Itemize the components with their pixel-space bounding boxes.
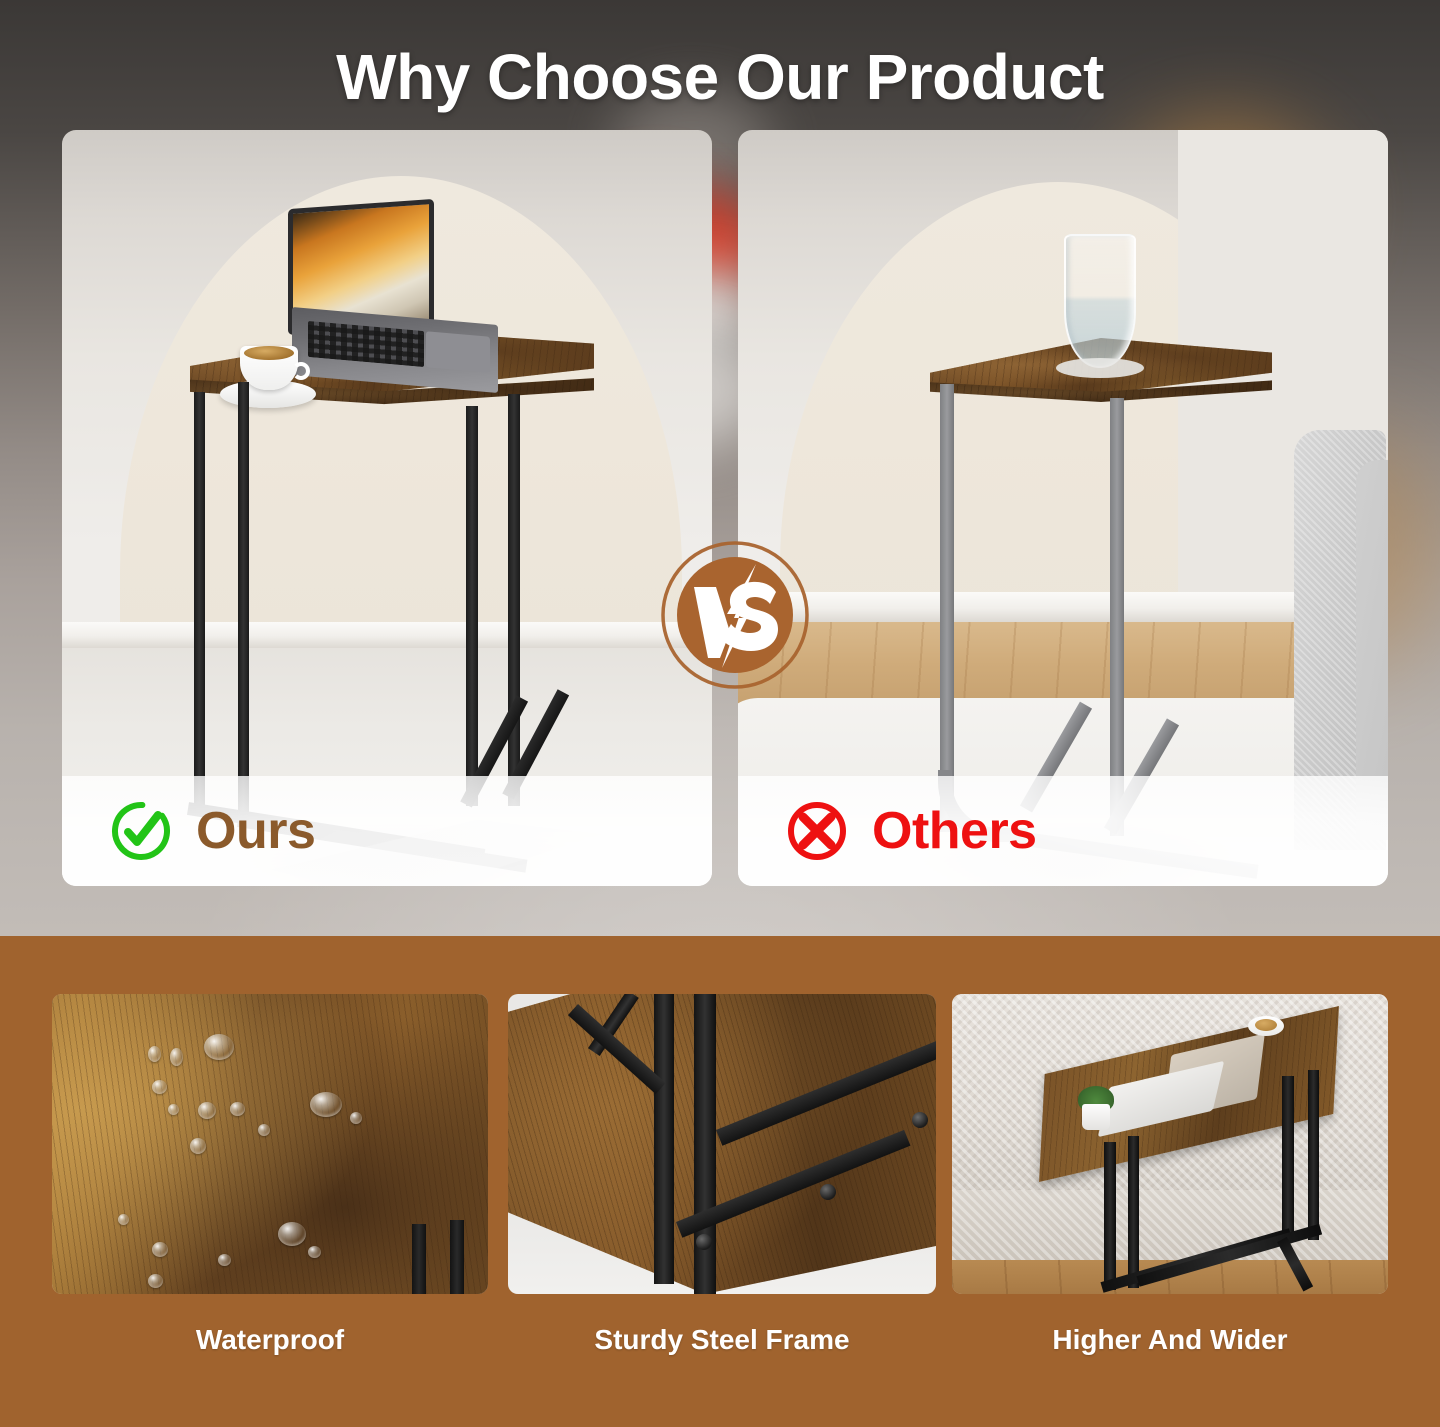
table-leg-rear	[194, 392, 205, 810]
comparison-section: Why Choose Our Product	[0, 0, 1440, 936]
bolt	[912, 1112, 928, 1128]
page-title: Why Choose Our Product	[336, 41, 1104, 113]
baseboard	[62, 622, 712, 648]
water-droplet	[152, 1080, 167, 1094]
coffee-liquid	[244, 346, 294, 360]
laptop-trackpad	[426, 331, 490, 373]
water-droplet	[170, 1048, 183, 1066]
baseboard	[738, 592, 1388, 622]
water-droplet	[204, 1034, 234, 1060]
feature-image-steel-frame	[508, 994, 936, 1294]
table-leg-rear	[1282, 1076, 1294, 1240]
bolt	[696, 1234, 712, 1250]
water-droplet	[152, 1242, 168, 1257]
table-leg-front	[1110, 398, 1124, 836]
feature-caption-higher-wider: Higher And Wider	[952, 1320, 1388, 1360]
water-droplet	[198, 1102, 216, 1119]
check-circle-icon	[108, 798, 174, 864]
water-droplet	[258, 1124, 270, 1136]
water-droplet	[148, 1274, 163, 1288]
table-leg	[412, 1224, 426, 1294]
sofa-seat	[952, 1190, 1388, 1260]
table-leg-front	[1104, 1142, 1116, 1290]
feature-image-higher-wider	[952, 994, 1388, 1294]
table-leg-rear-inner	[238, 382, 249, 812]
feature-image-waterproof	[52, 994, 488, 1294]
water-droplet	[190, 1138, 206, 1154]
cross-circle-icon	[784, 798, 850, 864]
cup-handle	[292, 362, 310, 380]
table-leg-rear	[940, 384, 954, 832]
bolt	[820, 1184, 836, 1200]
table-leg-front-inner	[1128, 1136, 1139, 1288]
features-section: Waterproof Sturdy Steel Frame Higher And…	[0, 936, 1440, 1427]
water-droplet	[148, 1046, 161, 1062]
table-leg-front	[466, 406, 478, 806]
table-leg-rear-inner	[1308, 1070, 1319, 1240]
ours-photo-panel: Ours	[62, 130, 712, 886]
feature-caption-waterproof: Waterproof	[52, 1320, 488, 1360]
water-droplet	[308, 1246, 321, 1258]
table-leg	[450, 1220, 464, 1294]
water-droplet	[278, 1222, 306, 1246]
water-droplet	[218, 1254, 231, 1266]
water-droplet	[310, 1092, 342, 1117]
water-droplet	[118, 1214, 129, 1225]
water-glass	[1064, 234, 1136, 368]
table-leg-front-inner	[508, 394, 520, 806]
versus-badge	[660, 540, 810, 690]
water-droplet	[350, 1112, 362, 1124]
ours-label: Ours	[196, 801, 315, 861]
water-droplet	[168, 1104, 179, 1115]
potted-plant-pot	[1082, 1104, 1110, 1130]
feature-caption-steel-frame: Sturdy Steel Frame	[508, 1320, 936, 1360]
others-label-strip: Others	[738, 776, 1388, 886]
ours-label-strip: Ours	[62, 776, 712, 886]
glass-coaster	[1056, 358, 1144, 378]
steel-vertical-bar	[654, 994, 674, 1284]
water-droplet	[230, 1102, 245, 1116]
coffee-liquid	[1255, 1019, 1277, 1031]
others-photo-panel: Others	[738, 130, 1388, 886]
others-label: Others	[872, 801, 1037, 861]
